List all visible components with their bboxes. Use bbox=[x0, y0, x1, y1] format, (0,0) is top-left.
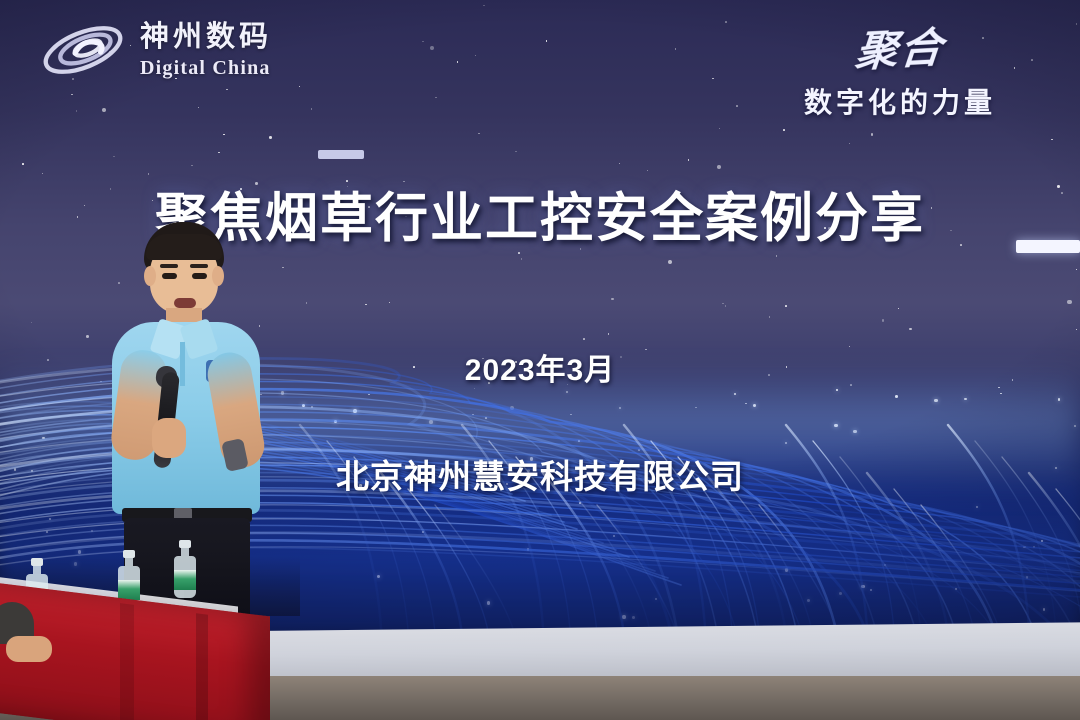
digital-china-wordmark: 神州数码 Digital China bbox=[140, 23, 272, 78]
brand-name-en: Digital China bbox=[140, 58, 272, 78]
tablecloth-fold bbox=[120, 603, 134, 720]
speaker-eyebrow-right bbox=[190, 264, 208, 268]
speaker-fringe bbox=[146, 234, 222, 260]
bottle-label bbox=[174, 570, 196, 590]
bottle-label bbox=[118, 580, 140, 600]
digital-china-logo: 神州数码 Digital China bbox=[40, 18, 272, 82]
speaker-eye-left bbox=[162, 273, 177, 279]
light-dash-top bbox=[318, 150, 364, 159]
audience-member-hand bbox=[6, 636, 52, 662]
slogan-subtitle: 数字化的力量 bbox=[750, 81, 1050, 121]
digital-china-spiral-logo-icon bbox=[40, 18, 126, 82]
speaker-eyebrow-left bbox=[160, 264, 178, 268]
bottle-cap bbox=[179, 540, 191, 548]
tablecloth-fold bbox=[196, 613, 208, 720]
event-slogan: 聚合 数字化的力量 bbox=[750, 16, 1050, 121]
water-bottle bbox=[174, 540, 196, 598]
bottle-cap bbox=[123, 550, 135, 558]
speaker-hand-holding-microphone bbox=[152, 418, 186, 458]
conference-photo: 神州数码 Digital China 聚合 数字化的力量 聚焦烟草行业工控安全案… bbox=[0, 0, 1080, 720]
speaker-ear-left bbox=[144, 266, 156, 286]
bottle-cap bbox=[31, 558, 43, 566]
speaker-mouth bbox=[174, 298, 196, 308]
speaker-eye-right bbox=[192, 273, 207, 279]
brand-name-cn: 神州数码 bbox=[140, 23, 272, 52]
slogan-brush-text: 聚合 bbox=[746, 8, 1053, 85]
speaker-shirt-placket bbox=[180, 342, 185, 386]
speaker-ear-right bbox=[212, 266, 224, 286]
